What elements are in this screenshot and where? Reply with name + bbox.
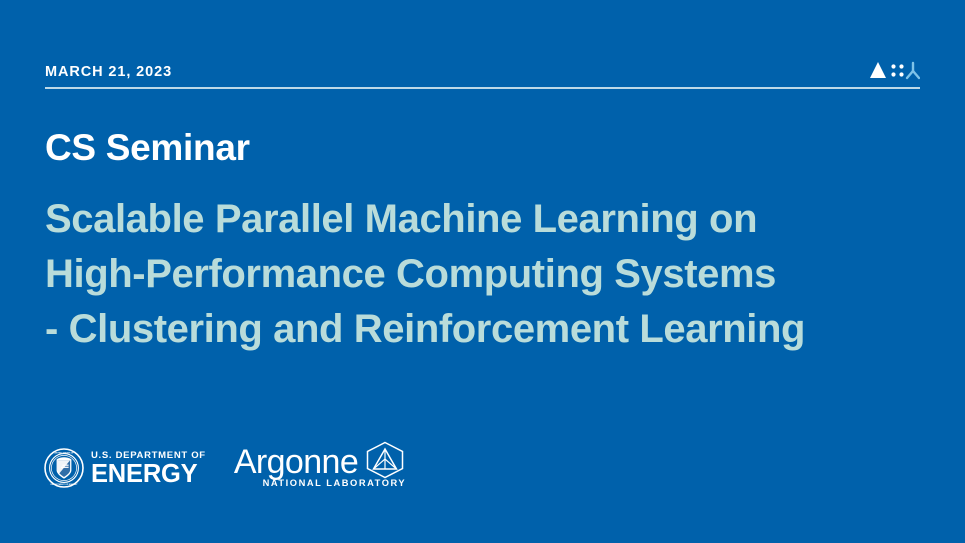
doe-department-label: U.S. DEPARTMENT OF — [91, 450, 206, 461]
footer-logos: UNITED STATES OF DEPARTMENT OF ENERGY U.… — [44, 440, 407, 496]
doe-seal-icon: UNITED STATES OF DEPARTMENT OF ENERGY — [44, 448, 84, 488]
doe-wordmark: U.S. DEPARTMENT OF ENERGY — [91, 450, 206, 487]
argonne-glyph-mark — [868, 59, 920, 81]
argonne-wordmark: Argonne NATIONAL LABORATORY — [234, 443, 407, 489]
svg-text:DEPARTMENT OF ENERGY: DEPARTMENT OF ENERGY — [50, 483, 78, 486]
title-line-1: Scalable Parallel Machine Learning on — [45, 192, 935, 247]
header-divider — [45, 87, 920, 89]
argonne-name: Argonne — [234, 443, 358, 481]
argonne-hexagon-icon — [363, 440, 407, 480]
presentation-title: Scalable Parallel Machine Learning on Hi… — [45, 192, 935, 357]
title-block: CS Seminar Scalable Parallel Machine Lea… — [45, 124, 935, 357]
doe-energy-label: ENERGY — [91, 461, 206, 487]
svg-text:UNITED STATES OF: UNITED STATES OF — [54, 452, 74, 455]
title-line-2: High-Performance Computing Systems — [45, 247, 935, 302]
seminar-series-title: CS Seminar — [45, 124, 935, 172]
argonne-name-row: Argonne — [234, 443, 407, 481]
argonne-tagline: NATIONAL LABORATORY — [263, 478, 407, 489]
argonne-logo: Argonne NATIONAL LABORATORY — [234, 443, 407, 493]
title-slide: MARCH 21, 2023 CS Seminar Scalable Paral… — [0, 0, 965, 543]
slide-header: MARCH 21, 2023 — [45, 62, 920, 92]
title-line-3: - Clustering and Reinforcement Learning — [45, 302, 935, 357]
doe-logo: UNITED STATES OF DEPARTMENT OF ENERGY U.… — [44, 448, 206, 488]
slide-date: MARCH 21, 2023 — [45, 62, 172, 82]
